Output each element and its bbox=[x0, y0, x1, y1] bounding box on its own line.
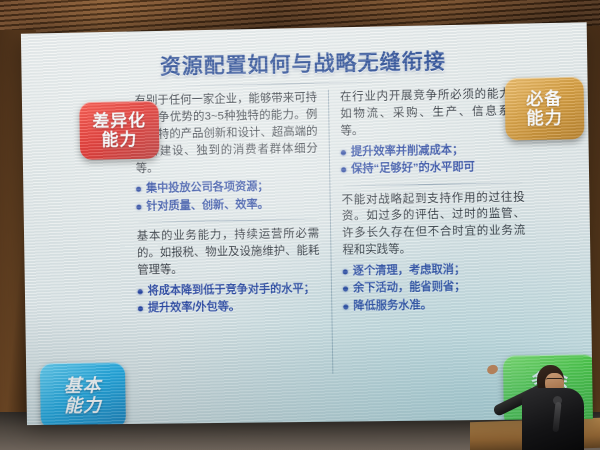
badge-line-2: 能力 bbox=[526, 108, 563, 128]
bullet-text: 将成本降到低于竞争对手的水平； bbox=[148, 282, 315, 300]
differentiating-description: 有别于任何一家企业，能够带来可持续竞争优势的3~5种独特的能力。例如独特的产品创… bbox=[135, 90, 319, 177]
glasses-icon bbox=[546, 378, 563, 382]
basic-description: 基本的业务能力，持续运营所必需的。如报税、物业及设施维护、能耗管理等。 bbox=[137, 226, 320, 279]
bullet-dot-icon bbox=[138, 307, 143, 312]
bullet-dot-icon bbox=[138, 289, 143, 294]
presenter-person bbox=[490, 340, 598, 450]
bullet-dot-icon bbox=[136, 204, 141, 209]
must-have-description: 在行业内开展竞争所必须的能力。如物流、采购、生产、信息系统等。 bbox=[340, 86, 524, 140]
list-item: 集中投放公司各项资源； bbox=[136, 179, 319, 197]
bullet-dot-icon bbox=[341, 167, 346, 172]
bullet-dot-icon bbox=[136, 187, 141, 192]
badge-line-1: 基本 bbox=[64, 375, 102, 396]
section-divider bbox=[343, 182, 522, 186]
badge-must-have-capability: 必备 能力 bbox=[505, 77, 585, 141]
badge-basic-capability: 基本 能力 bbox=[40, 362, 126, 425]
bullet-dot-icon bbox=[343, 269, 348, 274]
badge-line-1: 必备 bbox=[526, 89, 563, 109]
list-item: 余下活动，能省则省； bbox=[343, 279, 526, 297]
surplus-bullets: 逐个清理，考虑取消； 余下活动，能省则省； 降低服务水准。 bbox=[343, 262, 527, 315]
basic-bullets: 将成本降到低于竞争对手的水平； 提升效率/外包等。 bbox=[138, 282, 321, 317]
list-item: 降低服务水准。 bbox=[343, 297, 526, 315]
bullet-text: 余下活动，能省则省； bbox=[353, 280, 466, 297]
list-item: 针对质量、创新、效率。 bbox=[136, 197, 319, 215]
must-have-bullets: 提升效率并削减成本； 保持“足够好”的水平即可 bbox=[341, 142, 525, 178]
section-divider bbox=[139, 219, 317, 223]
slide-title: 资源配置如何与战略无缝衔接 bbox=[21, 42, 587, 83]
bullet-text: 保持“足够好”的水平即可 bbox=[351, 160, 475, 178]
bullet-text: 针对质量、创新、效率。 bbox=[146, 197, 269, 214]
badge-line-1: 差异化 bbox=[92, 111, 146, 131]
bullet-text: 集中投放公司各项资源； bbox=[146, 180, 269, 197]
conference-room-scene: 资源配置如何与战略无缝衔接 有别于任何一家企业，能够带来可持续竞争优势的3~5种… bbox=[0, 0, 600, 450]
list-item: 提升效率/外包等。 bbox=[138, 299, 321, 317]
list-item: 提升效率并削减成本； bbox=[341, 142, 524, 161]
title-divider bbox=[170, 81, 400, 86]
bullet-text: 提升效率/外包等。 bbox=[148, 300, 240, 317]
bullet-text: 提升效率并削减成本； bbox=[351, 143, 464, 160]
right-column: 在行业内开展竞争所必须的能力。如物流、采购、生产、信息系统等。 提升效率并削减成… bbox=[328, 86, 534, 374]
list-item: 逐个清理，考虑取消； bbox=[343, 262, 526, 280]
list-item: 保持“足够好”的水平即可 bbox=[341, 159, 524, 178]
surplus-description: 不能对战略起到支持作用的过往投资。如过多的评估、过时的监管、许多长久存在但不合时… bbox=[342, 189, 526, 260]
list-item: 将成本降到低于竞争对手的水平； bbox=[138, 282, 321, 300]
badge-differentiating-capability: 差异化 能力 bbox=[79, 101, 159, 160]
bullet-dot-icon bbox=[343, 287, 348, 292]
bullet-dot-icon bbox=[341, 150, 346, 155]
left-column: 有别于任何一家企业，能够带来可持续竞争优势的3~5种独特的能力。例如独特的产品创… bbox=[129, 90, 333, 377]
badge-line-2: 能力 bbox=[101, 130, 137, 150]
slide-content-columns: 有别于任何一家企业，能够带来可持续竞争优势的3~5种独特的能力。例如独特的产品创… bbox=[129, 86, 534, 376]
badge-line-2: 能力 bbox=[64, 395, 102, 415]
differentiating-bullets: 集中投放公司各项资源； 针对质量、创新、效率。 bbox=[136, 179, 319, 215]
bullet-dot-icon bbox=[343, 304, 348, 309]
bullet-text: 逐个清理，考虑取消； bbox=[353, 263, 466, 280]
bullet-text: 降低服务水准。 bbox=[353, 298, 432, 315]
